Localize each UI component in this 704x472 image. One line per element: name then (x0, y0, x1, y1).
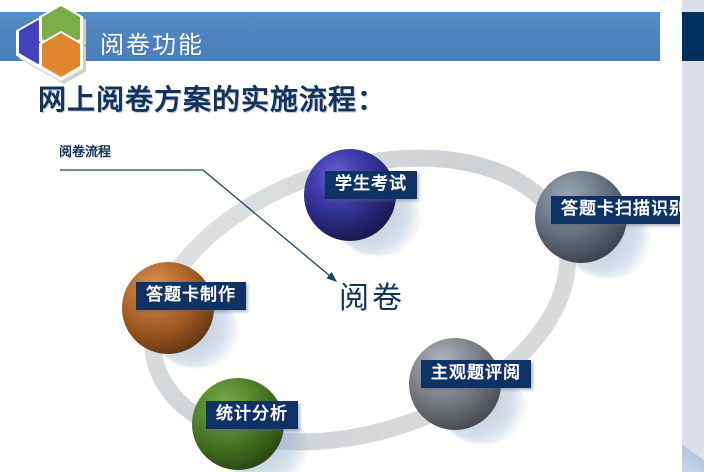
header-bar: 阅卷功能 (0, 12, 660, 61)
right-strip-header-block (682, 12, 704, 61)
callout-label: 阅卷流程 (59, 141, 111, 160)
header-title: 阅卷功能 (100, 25, 204, 60)
node-label-statistics[interactable]: 统计分析 (206, 401, 298, 429)
node-label-subjective[interactable]: 主观题评阅 (421, 360, 531, 388)
page-title: 网上阅卷方案的实施流程： (38, 78, 386, 118)
center-word: 阅卷 (339, 273, 405, 317)
header-bar-fill (0, 12, 660, 61)
node-label-card-make[interactable]: 答题卡制作 (136, 282, 246, 310)
node-label-scan-recognize[interactable]: 答题卡扫描识别 (551, 196, 697, 224)
hexagon-logo (8, 2, 94, 76)
slide-canvas: 学生考试 答题卡扫描识别 答题卡制作 主观题评阅 统计分析 阅卷 阅卷流程 网上… (0, 0, 704, 472)
right-strip (682, 0, 704, 472)
right-strip-accent (682, 426, 704, 472)
node-label-student-exam[interactable]: 学生考试 (325, 171, 417, 199)
